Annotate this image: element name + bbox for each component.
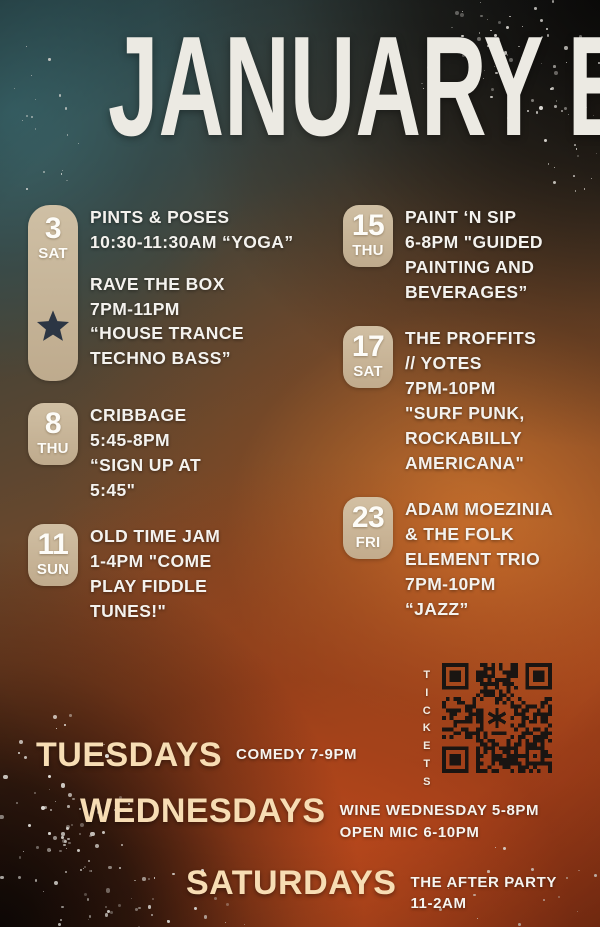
event-text-line: // YOTES: [405, 351, 536, 376]
weekly-description-line: THE AFTER PARTY: [410, 872, 557, 894]
event-details: CRIBBAGE5:45-8PM“SIGN UP AT5:45": [90, 403, 201, 502]
weekly-description-line: OPEN MIC 6-10PM: [340, 822, 540, 844]
event-text-line: BEVERAGES”: [405, 280, 543, 305]
badge-day-of-week: THU: [28, 441, 78, 458]
events-column-right: 15THUPAINT ‘N SIP6-8PM "GUIDEDPAINTING A…: [343, 205, 593, 622]
badge-day-number: 15: [343, 211, 393, 241]
event-text-line: 7PM-10PM: [405, 376, 536, 401]
weekly-day-label: WEDNESDAYS: [80, 794, 326, 828]
january-events-poster: JANUARY EVENTS 3SATPINTS & POSES10:30-11…: [0, 0, 600, 927]
weekly-description: WINE WEDNESDAY 5-8PMOPEN MIC 6-10PM: [340, 800, 540, 844]
date-badge-11: 11SUN: [28, 524, 78, 586]
tickets-label-letter: K: [420, 720, 434, 738]
date-badge-17: 17SAT: [343, 326, 393, 388]
event-text-line: 1-4PM "COME: [90, 549, 220, 574]
event-text-line: TUNES!": [90, 599, 220, 624]
badge-day-of-week: SAT: [343, 364, 393, 381]
event-text-line: 5:45": [90, 478, 201, 503]
event-text-line: 5:45-8PM: [90, 428, 201, 453]
event-item: 15THUPAINT ‘N SIP6-8PM "GUIDEDPAINTING A…: [343, 205, 593, 304]
date-badge-23: 23FRI: [343, 497, 393, 559]
event-text-line: "SURF PUNK,: [405, 401, 536, 426]
event-text-line: 7PM-11PM: [90, 297, 294, 322]
event-text-block: RAVE THE BOX7PM-11PM“HOUSE TRANCETECHNO …: [90, 272, 294, 371]
weekly-day-label: TUESDAYS: [36, 738, 222, 772]
star-icon: [35, 309, 71, 343]
event-details: PAINT ‘N SIP6-8PM "GUIDEDPAINTING ANDBEV…: [405, 205, 543, 304]
event-text-line: PINTS & POSES: [90, 205, 294, 230]
badge-day-of-week: SUN: [28, 562, 78, 579]
event-text-block: OLD TIME JAM1-4PM "COMEPLAY FIDDLETUNES!…: [90, 524, 220, 623]
event-text-line: 7PM-10PM: [405, 572, 553, 597]
event-text-line: RAVE THE BOX: [90, 272, 294, 297]
event-item: 11SUNOLD TIME JAM1-4PM "COMEPLAY FIDDLET…: [28, 524, 328, 623]
event-text-line: “JAZZ”: [405, 597, 553, 622]
event-details: PINTS & POSES10:30-11:30AM “YOGA”RAVE TH…: [90, 205, 294, 371]
event-details: ADAM MOEZINIA& THE FOLKELEMENT TRIO7PM-1…: [405, 497, 553, 621]
badge-day-number: 23: [343, 503, 393, 533]
event-text-line: TECHNO BASS”: [90, 346, 294, 371]
weekly-row: WEDNESDAYSWINE WEDNESDAY 5-8PMOPEN MIC 6…: [0, 794, 600, 844]
weekly-day-label: SATURDAYS: [186, 866, 396, 900]
event-text-block: PAINT ‘N SIP6-8PM "GUIDEDPAINTING ANDBEV…: [405, 205, 543, 304]
event-text-line: ELEMENT TRIO: [405, 547, 553, 572]
event-text-block: THE PROFFITS// YOTES7PM-10PM"SURF PUNK,R…: [405, 326, 536, 475]
event-text-block: PINTS & POSES10:30-11:30AM “YOGA”: [90, 205, 294, 255]
event-text-line: ROCKABILLY: [405, 426, 536, 451]
event-text-block: ADAM MOEZINIA& THE FOLKELEMENT TRIO7PM-1…: [405, 497, 553, 621]
event-text-line: 6-8PM "GUIDED: [405, 230, 543, 255]
badge-day-of-week: THU: [343, 243, 393, 260]
tickets-label-letter: I: [420, 685, 434, 703]
events-column-left: 3SATPINTS & POSES10:30-11:30AM “YOGA”RAV…: [28, 205, 328, 624]
weekly-description: COMEDY 7-9PM: [236, 744, 357, 766]
weekly-row: SATURDAYSTHE AFTER PARTY11-2AM: [0, 866, 600, 916]
event-item: 23FRIADAM MOEZINIA& THE FOLKELEMENT TRIO…: [343, 497, 593, 621]
badge-day-of-week: FRI: [343, 535, 393, 552]
tickets-label-letter: T: [420, 667, 434, 685]
event-text-line: ADAM MOEZINIA: [405, 497, 553, 522]
weekly-description-line: 11-2AM: [410, 893, 557, 915]
event-text-block: CRIBBAGE5:45-8PM“SIGN UP AT5:45": [90, 403, 201, 502]
event-text-line: “SIGN UP AT: [90, 453, 201, 478]
event-text-line: THE PROFFITS: [405, 326, 536, 351]
event-details: THE PROFFITS// YOTES7PM-10PM"SURF PUNK,R…: [405, 326, 536, 475]
event-text-line: & THE FOLK: [405, 522, 553, 547]
date-badge-8: 8THU: [28, 403, 78, 465]
event-text-line: OLD TIME JAM: [90, 524, 220, 549]
event-text-line: PAINT ‘N SIP: [405, 205, 543, 230]
badge-day-of-week: SAT: [28, 246, 78, 263]
weekly-specials: TUESDAYSCOMEDY 7-9PMWEDNESDAYSWINE WEDNE…: [0, 738, 600, 927]
event-details: OLD TIME JAM1-4PM "COMEPLAY FIDDLETUNES!…: [90, 524, 220, 623]
event-text-line: PLAY FIDDLE: [90, 574, 220, 599]
event-item: 8THUCRIBBAGE5:45-8PM“SIGN UP AT5:45": [28, 403, 328, 502]
event-text-line: AMERICANA": [405, 451, 536, 476]
badge-day-number: 3: [28, 214, 78, 244]
event-text-line: PAINTING AND: [405, 255, 543, 280]
weekly-description: THE AFTER PARTY11-2AM: [410, 872, 557, 916]
badge-day-number: 17: [343, 332, 393, 362]
weekly-row: TUESDAYSCOMEDY 7-9PM: [0, 738, 600, 772]
badge-day-number: 11: [28, 530, 78, 560]
tickets-label-letter: C: [420, 703, 434, 721]
event-item: 3SATPINTS & POSES10:30-11:30AM “YOGA”RAV…: [28, 205, 328, 381]
badge-day-number: 8: [28, 409, 78, 439]
event-item: 17SATTHE PROFFITS// YOTES7PM-10PM"SURF P…: [343, 326, 593, 475]
weekly-description-line: WINE WEDNESDAY 5-8PM: [340, 800, 540, 822]
event-text-line: 10:30-11:30AM “YOGA”: [90, 230, 294, 255]
page-title: JANUARY EVENTS: [108, 22, 492, 153]
event-text-line: CRIBBAGE: [90, 403, 201, 428]
event-text-line: “HOUSE TRANCE: [90, 321, 294, 346]
weekly-description-line: COMEDY 7-9PM: [236, 744, 357, 766]
date-badge-15: 15THU: [343, 205, 393, 267]
date-badge-3: 3SAT: [28, 205, 78, 381]
